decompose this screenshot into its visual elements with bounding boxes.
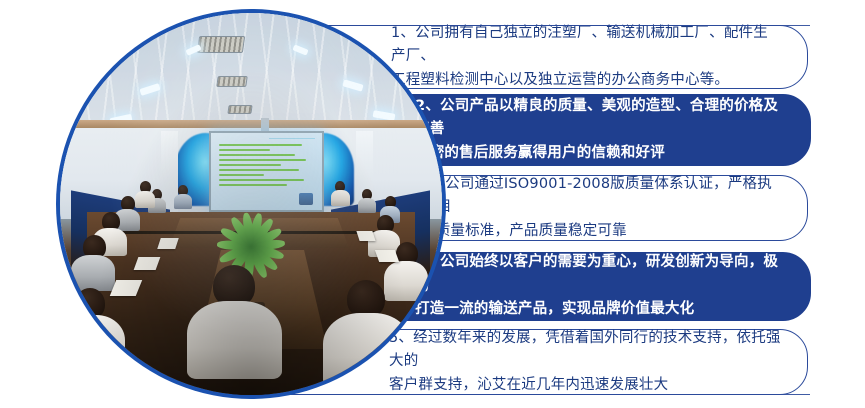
ceiling-vent-icon-2 <box>216 76 248 87</box>
conference-room-photo <box>60 13 442 395</box>
advantage-card-2-text: 2、公司产品以精良的质量、美观的造型、合理的价格及完善 周密的售后服务赢得用户的… <box>415 95 784 165</box>
slide-content <box>219 144 314 199</box>
slide-header-rule <box>269 138 315 140</box>
document-on-desk <box>356 231 375 241</box>
ceiling-vent-icon-3 <box>227 105 252 114</box>
document-on-desk <box>375 250 399 262</box>
advantage-card-1-text: 1、公司拥有自己独立的注塑厂、输送机械加工厂、配件生产厂、 工程塑料检测中心以及… <box>391 22 781 92</box>
advantage-card-4-text: 4、公司始终以客户的需要为重心，研发创新为导向，极力 打造一流的输送产品，实现品… <box>415 251 784 321</box>
projection-screen <box>209 131 324 211</box>
conference-room-photo-image <box>60 13 442 395</box>
advantage-card-5-text: 5、经过数年来的发展，凭借着国外同行的技术支持，依托强大的 客户群支持，沁艾在近… <box>389 327 781 397</box>
ceiling-vent-icon <box>196 36 244 53</box>
slide-logo-mark <box>299 193 313 205</box>
wall-trim <box>60 120 442 128</box>
infographic-stage: 1、公司拥有自己独立的注塑厂、输送机械加工厂、配件生产厂、 工程塑料检测中心以及… <box>0 0 865 408</box>
advantage-card-3-text: 3、公司通过ISO9001-2008版质量体系认证，严格执行相 关质量标准，产品… <box>421 173 781 243</box>
